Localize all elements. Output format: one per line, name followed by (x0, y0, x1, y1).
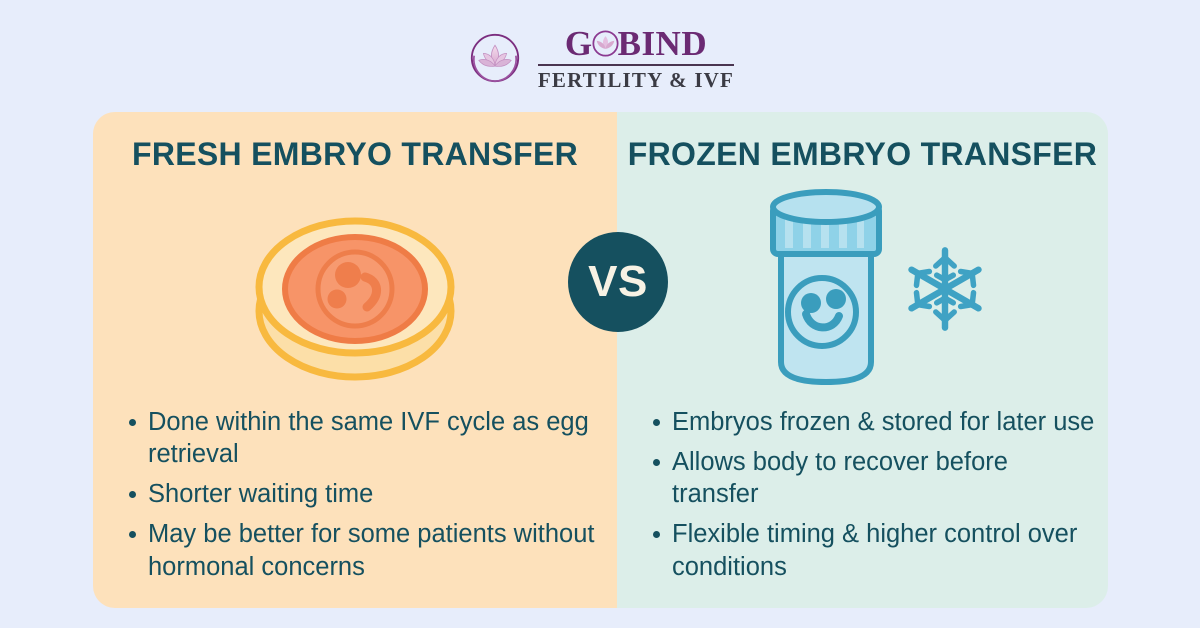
bullet-list-left: Done within the same IVF cycle as egg re… (129, 406, 597, 591)
logo-divider (538, 64, 734, 66)
bullet-text: Embryos frozen & stored for later use (672, 406, 1100, 438)
bullet-text: May be better for some patients without … (148, 518, 597, 582)
illustration-right (617, 174, 1108, 404)
cryo-vial-embryo-icon (759, 186, 893, 392)
bullet-text: Shorter waiting time (148, 478, 597, 510)
brand-name-part1: G (565, 26, 593, 61)
panel-frozen-embryo-transfer: FROZEN EMBRYO TRANSFER (617, 112, 1108, 608)
brand-wordmark: G BIND FERTILITY & IVF (538, 26, 734, 91)
lotus-circle-logo-icon (466, 29, 524, 87)
bullet-text: Allows body to recover before transfer (672, 446, 1100, 510)
list-item: Done within the same IVF cycle as egg re… (129, 406, 597, 470)
bullet-list-right: Embryos frozen & stored for later use Al… (653, 406, 1100, 591)
panel-title-left: FRESH EMBRYO TRANSFER (93, 136, 617, 173)
bullet-dot-icon (129, 491, 136, 498)
comparison-card: FRESH EMBRYO TRANSFER Done within the (93, 112, 1108, 608)
bullet-dot-icon (653, 531, 660, 538)
panel-title-right: FROZEN EMBRYO TRANSFER (617, 136, 1108, 173)
snowflake-icon (899, 243, 991, 335)
bullet-dot-icon (129, 419, 136, 426)
petri-dish-embryo-icon (249, 189, 461, 389)
vs-badge: VS (568, 232, 668, 332)
list-item: Allows body to recover before transfer (653, 446, 1100, 510)
list-item: May be better for some patients without … (129, 518, 597, 582)
brand-tagline: FERTILITY & IVF (538, 70, 734, 91)
brand-logo: G BIND FERTILITY & IVF (0, 22, 1200, 94)
bullet-dot-icon (653, 459, 660, 466)
list-item: Flexible timing & higher control over co… (653, 518, 1100, 582)
lotus-icon (592, 30, 619, 57)
illustration-left (93, 174, 617, 404)
bullet-text: Flexible timing & higher control over co… (672, 518, 1100, 582)
brand-name-part2: BIND (618, 26, 708, 61)
list-item: Embryos frozen & stored for later use (653, 406, 1100, 438)
list-item: Shorter waiting time (129, 478, 597, 510)
panel-fresh-embryo-transfer: FRESH EMBRYO TRANSFER Done within the (93, 112, 617, 608)
bullet-text: Done within the same IVF cycle as egg re… (148, 406, 597, 470)
bullet-dot-icon (129, 531, 136, 538)
bullet-dot-icon (653, 419, 660, 426)
